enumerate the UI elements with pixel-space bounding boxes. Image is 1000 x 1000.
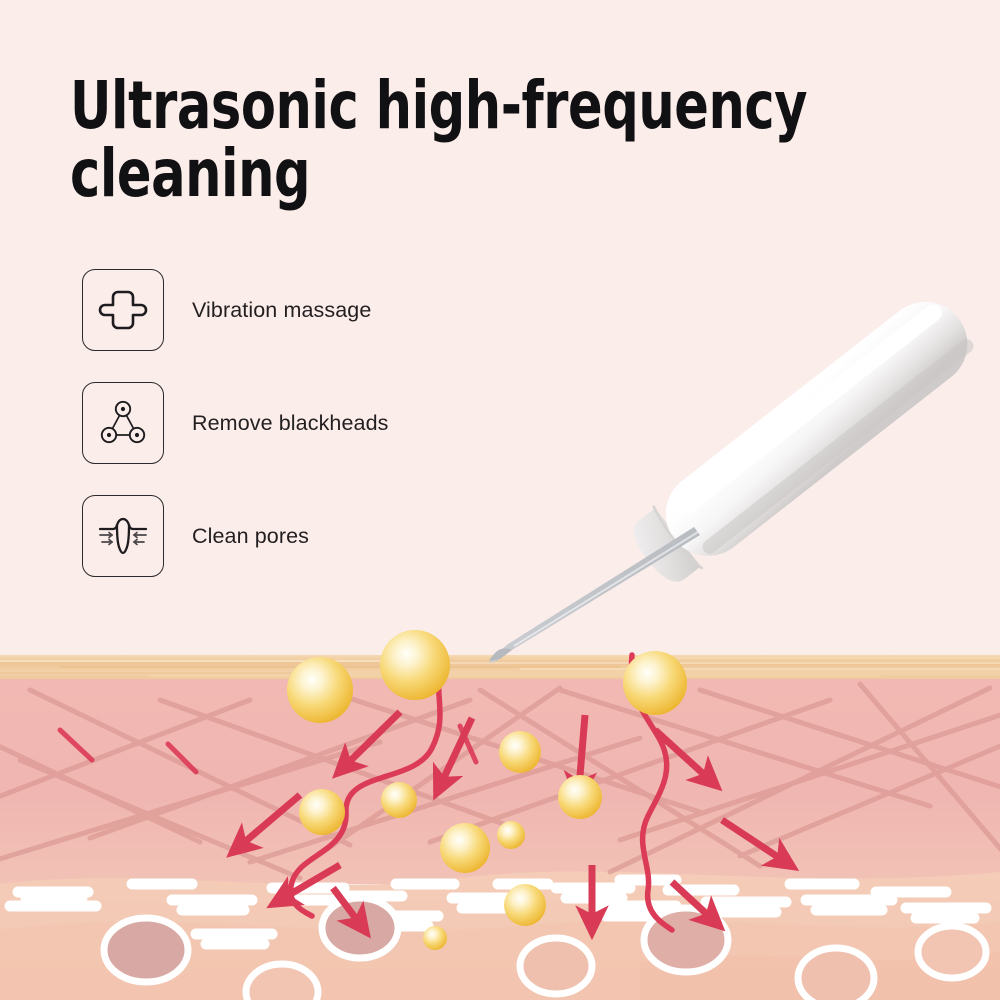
feature-label: Clean pores xyxy=(192,524,309,549)
page-title: Ultrasonic high-frequency cleaning xyxy=(70,72,827,208)
pore-inflow-arrows-icon xyxy=(97,511,149,561)
feature-item-remove-blackheads[interactable]: Remove blackheads xyxy=(82,379,389,467)
feature-item-clean-pores[interactable]: Clean pores xyxy=(82,492,389,580)
feature-item-vibration-massage[interactable]: Vibration massage xyxy=(82,266,389,354)
wand-metal-tip xyxy=(489,527,700,663)
triangle-nodes-icon xyxy=(98,398,148,448)
feature-label: Vibration massage xyxy=(192,298,371,323)
wand-barrel xyxy=(649,285,984,573)
product-infographic: Ultrasonic high-frequency cleaning Vibra… xyxy=(0,0,1000,1000)
feature-icon-box xyxy=(82,495,164,577)
plus-cross-icon xyxy=(98,285,148,335)
feature-label: Remove blackheads xyxy=(192,411,389,436)
feature-list: Vibration massage Remove blackheads xyxy=(82,266,389,605)
feature-icon-box xyxy=(82,269,164,351)
feature-icon-box xyxy=(82,382,164,464)
